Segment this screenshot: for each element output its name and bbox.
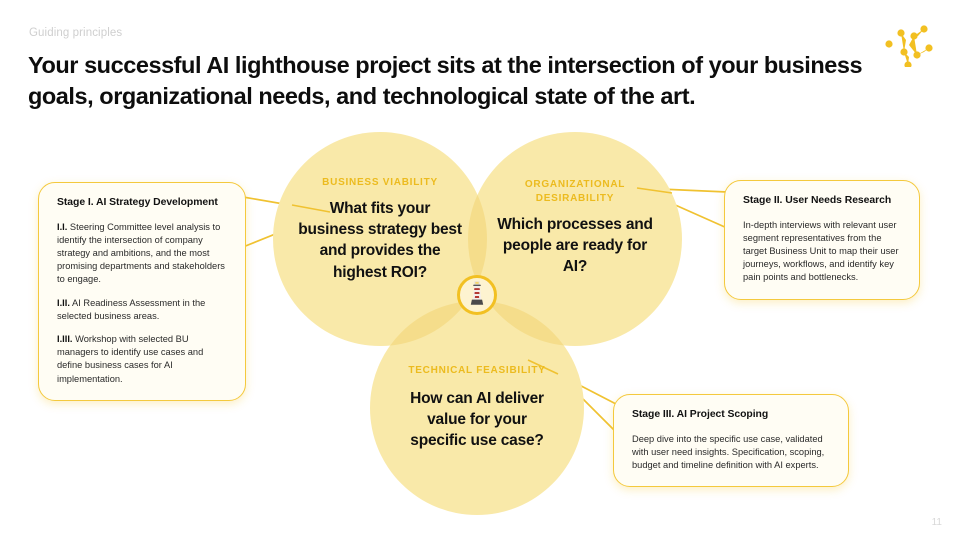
callout-title-stage1: Stage I. AI Strategy Development [57,196,230,210]
callout-body-stage3: Deep dive into the specific use case, va… [632,433,833,473]
circle-label-technical-feasibility: TECHNICAL FEASIBILITY [397,364,557,378]
callout-item-2: I.II. AI Readiness Assessment in the sel… [57,297,230,323]
callout-item-3-text: Workshop with selected BU managers to id… [57,334,203,384]
callout-card-stage3[interactable]: Stage III. AI Project Scoping Deep dive … [613,394,849,487]
callout-item-1-text: Steering Committee level analysis to ide… [57,222,225,285]
callout-title-stage3: Stage III. AI Project Scoping [632,408,833,422]
callout-item-2-text: AI Readiness Assessment in the selected … [57,298,205,321]
center-badge [457,275,497,315]
callout-item-1: I.I. Steering Committee level analysis t… [57,221,230,287]
callout-item-2-number: I.II. [57,298,70,308]
circle-label-organizational-desirability: ORGANIZATIONAL DESIRABILITY [505,178,645,205]
circle-question-business-viability: What fits your business strategy best an… [296,198,464,283]
callout-body-stage2: In-depth interviews with relevant user s… [743,219,904,285]
callout-card-stage1[interactable]: Stage I. AI Strategy Development I.I. St… [38,182,246,401]
circle-question-technical-feasibility: How can AI deliver value for your specif… [406,388,548,452]
lighthouse-icon [467,280,487,311]
callout-title-stage2: Stage II. User Needs Research [743,194,904,208]
callout-item-1-number: I.I. [57,222,67,232]
callout-item-3-number: I.III. [57,334,73,344]
circle-question-organizational-desirability: Which processes and people are ready for… [492,214,658,278]
callout-item-3: I.III. Workshop with selected BU manager… [57,333,230,386]
circle-label-business-viability: BUSINESS VIABILITY [300,176,460,190]
callout-card-stage2[interactable]: Stage II. User Needs Research In-depth i… [724,180,920,300]
